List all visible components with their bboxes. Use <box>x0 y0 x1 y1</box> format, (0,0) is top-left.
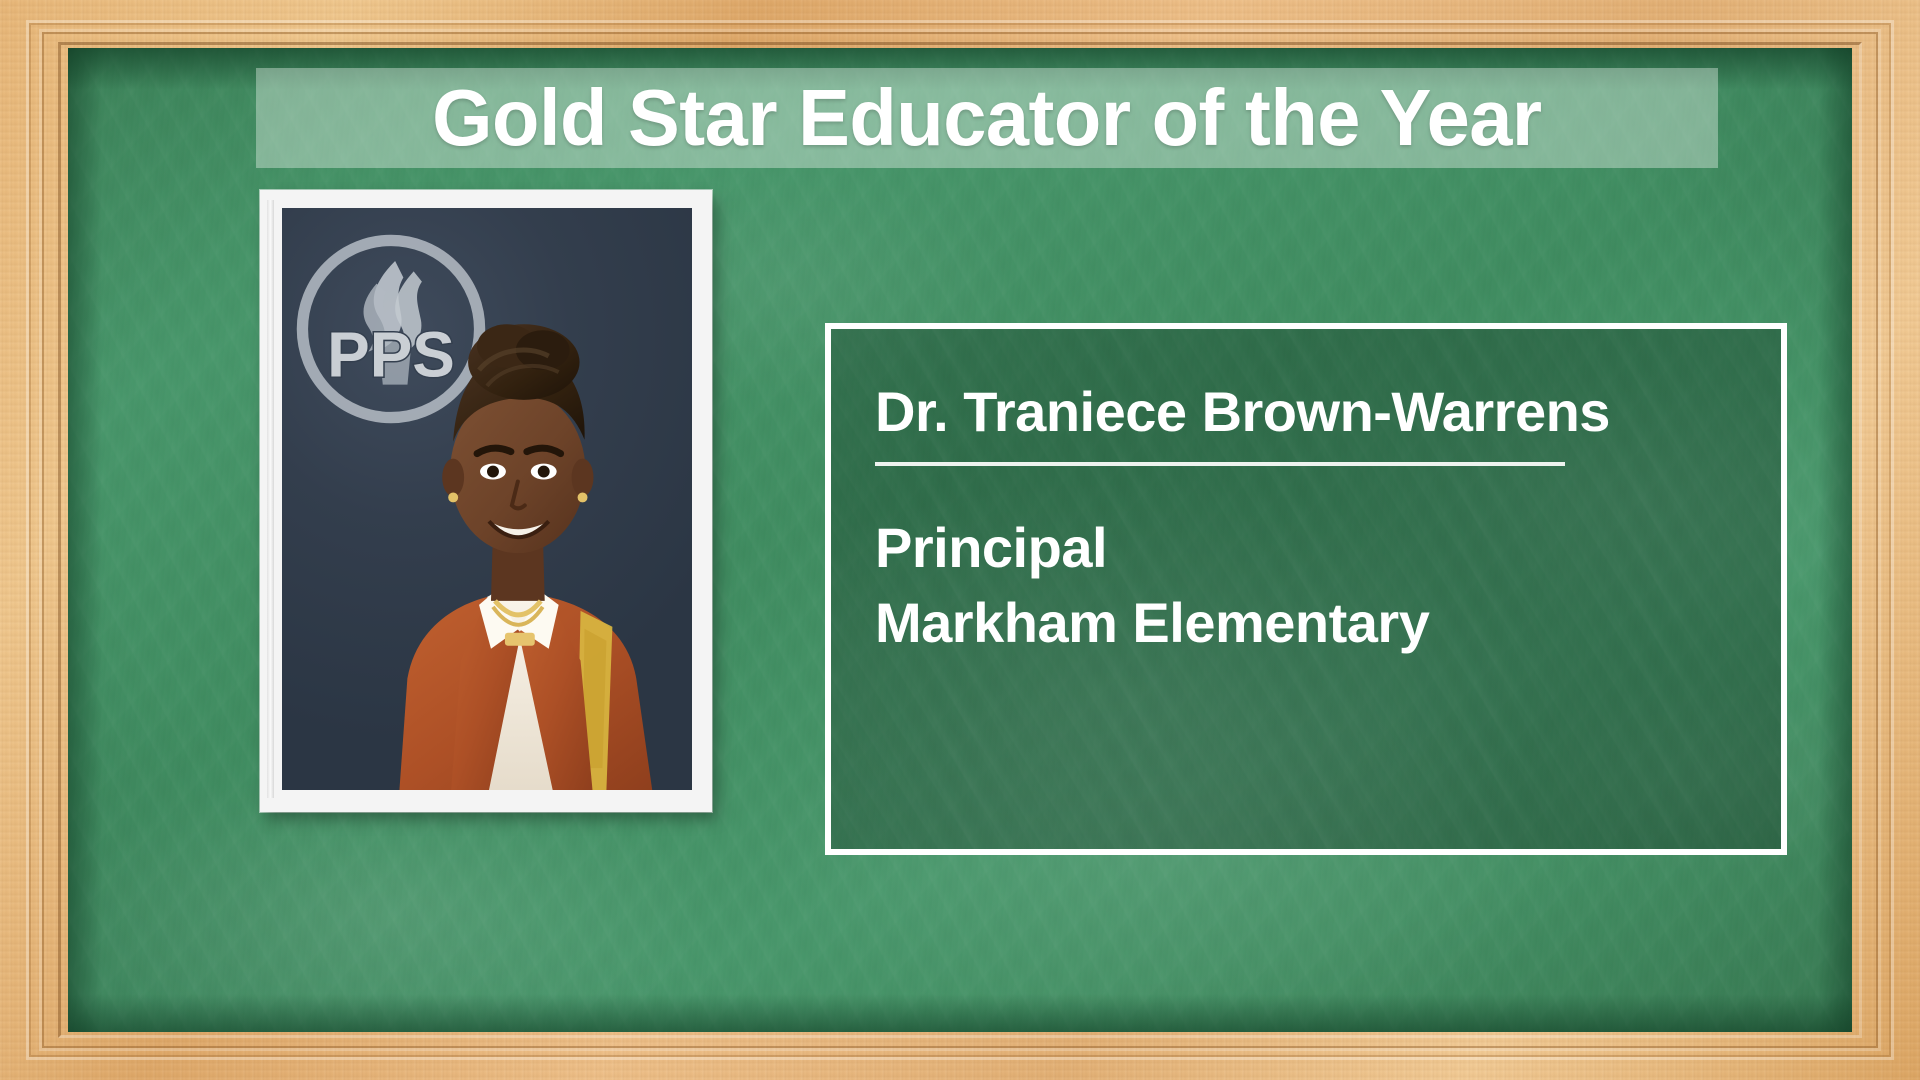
educator-school: Markham Elementary <box>875 585 1781 660</box>
portrait-photo-card: PPS <box>260 190 712 812</box>
educator-info-panel: Dr. Traniece Brown-Warrens Principal Mar… <box>825 323 1787 855</box>
educator-name: Dr. Traniece Brown-Warrens <box>875 383 1781 442</box>
role-block: Principal Markham Elementary <box>875 510 1781 660</box>
name-divider <box>875 462 1565 466</box>
slide-root: Gold Star Educator of the Year PPS <box>0 0 1920 1080</box>
page-title: Gold Star Educator of the Year <box>432 78 1541 158</box>
title-banner: Gold Star Educator of the Year <box>256 68 1718 168</box>
educator-role: Principal <box>875 510 1781 585</box>
chalkboard: Gold Star Educator of the Year PPS <box>68 48 1852 1032</box>
portrait-figure <box>282 208 692 790</box>
portrait-photo: PPS <box>282 208 692 790</box>
